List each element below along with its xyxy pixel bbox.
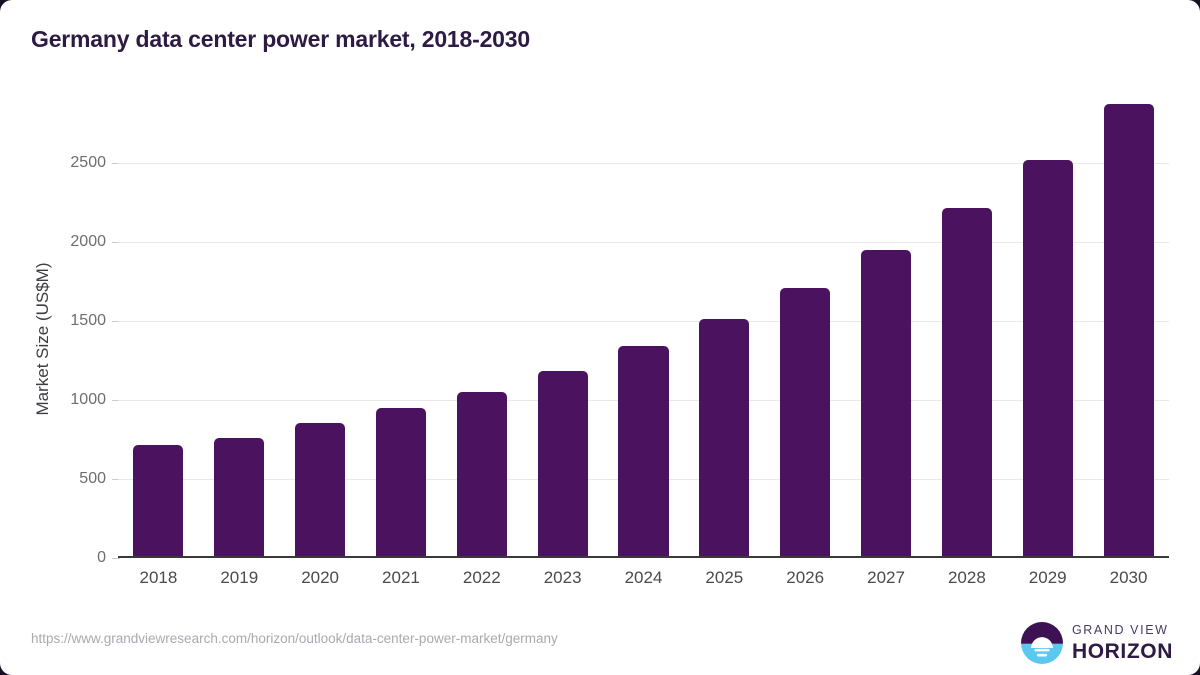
- x-tick-label-2028: 2028: [948, 568, 986, 588]
- x-tick-label-2023: 2023: [544, 568, 582, 588]
- logo-line-grand-view: GRAND VIEW: [1072, 624, 1173, 637]
- bar-2025[interactable]: [699, 319, 749, 556]
- bar-2023[interactable]: [538, 371, 588, 556]
- x-tick-label-2025: 2025: [705, 568, 743, 588]
- gridline: [118, 163, 1169, 164]
- plot-area: [118, 100, 1169, 558]
- logo-text: GRAND VIEW HORIZON: [1072, 624, 1173, 662]
- bar-2028[interactable]: [942, 208, 992, 556]
- x-tick-label-2019: 2019: [220, 568, 258, 588]
- bar-2022[interactable]: [457, 392, 507, 556]
- gridline: [118, 321, 1169, 322]
- logo-line-horizon: HORIZON: [1072, 641, 1173, 662]
- brand-logo[interactable]: GRAND VIEW HORIZON: [1021, 620, 1173, 666]
- bar-2018[interactable]: [133, 445, 183, 556]
- bar-2024[interactable]: [618, 346, 668, 556]
- bar-2030[interactable]: [1104, 104, 1154, 556]
- x-tick-label-2029: 2029: [1029, 568, 1067, 588]
- x-tick-label-2024: 2024: [625, 568, 663, 588]
- x-tick-label-2018: 2018: [140, 568, 178, 588]
- source-url[interactable]: https://www.grandviewresearch.com/horizo…: [31, 631, 558, 646]
- x-axis-line: [118, 556, 1169, 558]
- y-tick-mark: [112, 558, 120, 559]
- bar-2029[interactable]: [1023, 160, 1073, 556]
- bar-2026[interactable]: [780, 288, 830, 556]
- gridline: [118, 242, 1169, 243]
- x-tick-label-2027: 2027: [867, 568, 905, 588]
- x-tick-label-2020: 2020: [301, 568, 339, 588]
- bar-2027[interactable]: [861, 250, 911, 556]
- x-tick-label-2022: 2022: [463, 568, 501, 588]
- chart-card: Germany data center power market, 2018-2…: [0, 0, 1200, 675]
- x-tick-label-2030: 2030: [1110, 568, 1148, 588]
- bar-2021[interactable]: [376, 408, 426, 556]
- y-axis-title: Market Size (US$M): [33, 59, 53, 619]
- horizon-circle-icon: [1021, 622, 1063, 664]
- bar-2020[interactable]: [295, 423, 345, 556]
- page-title: Germany data center power market, 2018-2…: [31, 26, 530, 53]
- x-tick-label-2026: 2026: [786, 568, 824, 588]
- x-tick-label-2021: 2021: [382, 568, 420, 588]
- bar-2019[interactable]: [214, 438, 264, 556]
